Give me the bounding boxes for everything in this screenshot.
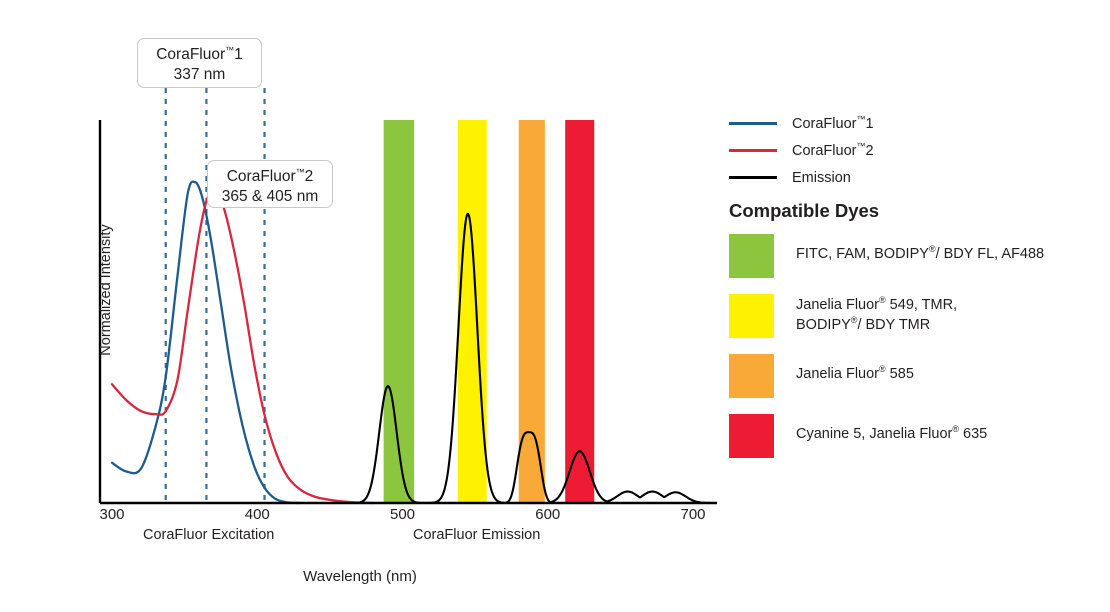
callout-corafluor-1: CoraFluor™1 337 nm — [137, 38, 262, 88]
series-curve-1 — [112, 191, 373, 503]
x-tick-600: 600 — [518, 506, 578, 523]
series-legend: CoraFluor™1CoraFluor™2Emission — [729, 110, 1104, 191]
callout-cf2-line2: 365 & 405 nm — [218, 187, 322, 207]
dye-color-swatch — [729, 414, 774, 458]
trademark-icon: ™ — [296, 167, 305, 177]
callout-cf1-line2: 337 nm — [148, 65, 251, 85]
compatible-dyes-heading: Compatible Dyes — [729, 200, 879, 222]
x-tick-300: 300 — [82, 506, 142, 523]
legend-line-swatch — [729, 122, 777, 125]
dye-color-swatch — [729, 294, 774, 338]
legend-line-swatch — [729, 176, 777, 179]
dye-label: FITC, FAM, BODIPY®/ BDY FL, AF488 — [796, 234, 1044, 265]
trademark-icon: ™ — [856, 114, 865, 124]
x-tick-700: 700 — [663, 506, 723, 523]
registered-icon: ® — [952, 424, 959, 434]
dye-color-swatch — [729, 354, 774, 398]
shaded-band-yellow-band — [458, 120, 487, 503]
dye-color-swatch — [729, 234, 774, 278]
legend-label: CoraFluor™2 — [792, 143, 874, 159]
registered-icon: ® — [929, 244, 936, 254]
dye-row-3: Cyanine 5, Janelia Fluor® 635 — [729, 414, 1104, 458]
callout-cf1-line1: CoraFluor™1 — [148, 45, 251, 65]
registered-icon: ® — [879, 364, 886, 374]
registered-icon: ® — [879, 295, 886, 305]
dye-row-2: Janelia Fluor® 585 — [729, 354, 1104, 398]
x-axis-title: Wavelength (nm) — [0, 568, 720, 585]
legend-row-1: CoraFluor™2 — [729, 137, 1104, 164]
legend-line-swatch — [729, 149, 777, 152]
dye-label: Janelia Fluor® 585 — [796, 354, 914, 385]
dye-row-0: FITC, FAM, BODIPY®/ BDY FL, AF488 — [729, 234, 1104, 278]
trademark-icon: ™ — [225, 45, 234, 55]
legend-label: CoraFluor™1 — [792, 116, 874, 132]
legend-label: Emission — [792, 170, 851, 186]
x-tick-500: 500 — [373, 506, 433, 523]
dye-label: Janelia Fluor® 549, TMR,BODIPY®/ BDY TMR — [796, 294, 957, 335]
shaded-band-orange-band — [519, 120, 545, 503]
excitation-range-caption: CoraFluor Excitation — [143, 527, 274, 543]
y-axis-title: Normalized Intensity — [98, 190, 114, 390]
legend-row-0: CoraFluor™1 — [729, 110, 1104, 137]
legend-row-2: Emission — [729, 164, 1104, 191]
compatible-dyes-list: FITC, FAM, BODIPY®/ BDY FL, AF488Janelia… — [729, 234, 1104, 474]
dye-row-1: Janelia Fluor® 549, TMR,BODIPY®/ BDY TMR — [729, 294, 1104, 338]
callout-cf2-line1: CoraFluor™2 — [218, 167, 322, 187]
x-tick-400: 400 — [227, 506, 287, 523]
dye-label: Cyanine 5, Janelia Fluor® 635 — [796, 414, 987, 445]
emission-range-caption: CoraFluor Emission — [413, 527, 540, 543]
shaded-band-red-band — [565, 120, 594, 503]
fluorescence-spectra-figure: CoraFluor™1 337 nm CoraFluor™2 365 & 405… — [0, 0, 1110, 612]
registered-icon: ® — [851, 315, 858, 325]
callout-corafluor-2: CoraFluor™2 365 & 405 nm — [207, 160, 333, 208]
trademark-icon: ™ — [856, 141, 865, 151]
